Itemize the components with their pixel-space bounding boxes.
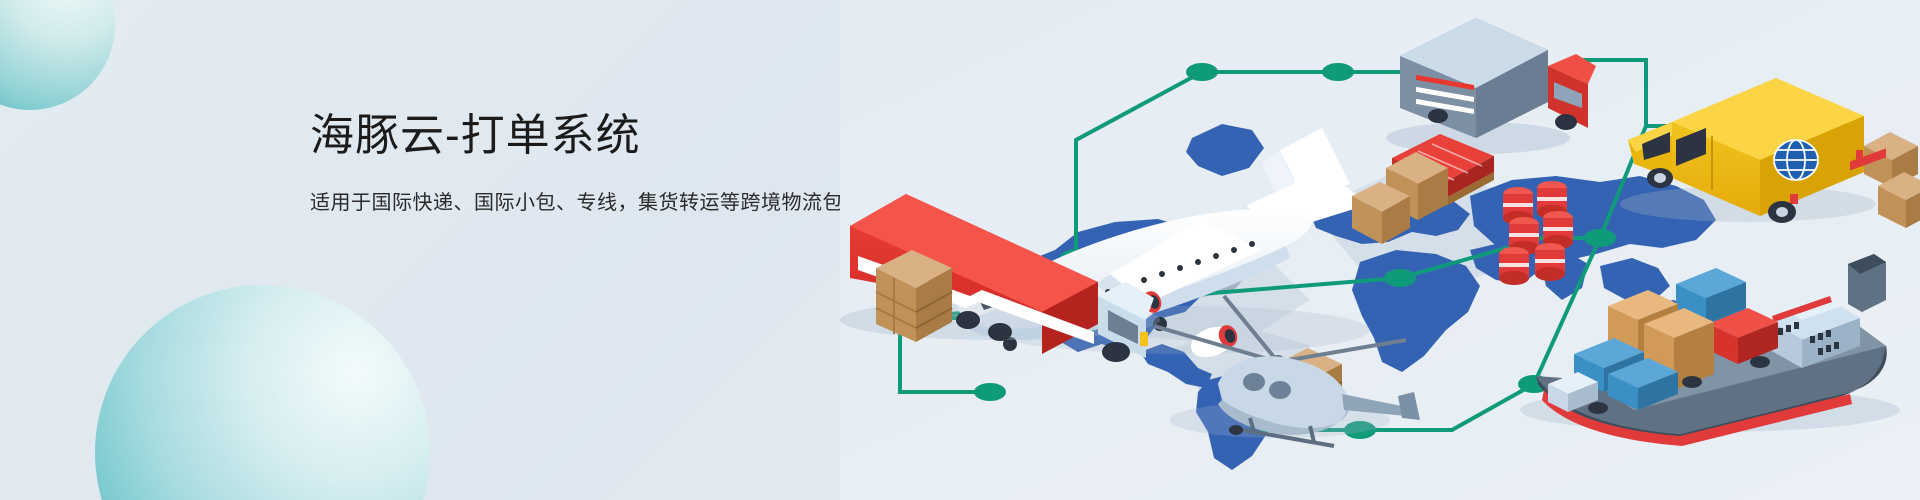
hero-banner: 海豚云-打单系统 适用于国际快递、国际小包、专线，集货转运等跨境物流包裹处理 [0,0,1920,500]
cardboard-boxes-icon [876,250,952,342]
decorative-circle-bottom-left [95,285,430,500]
network-node [1322,63,1354,81]
page-subtitle: 适用于国际快递、国际小包、专线，集货转运等跨境物流包裹处理 [310,189,930,217]
network-node [1584,229,1616,247]
banner-text-block: 海豚云-打单系统 适用于国际快递、国际小包、专线，集货转运等跨境物流包裹处理 [310,108,930,217]
page-title: 海豚云-打单系统 [310,108,930,163]
network-node [1186,63,1218,81]
network-node [974,383,1006,401]
globe-logo-icon [1774,140,1818,180]
network-node [1384,269,1416,287]
decorative-circle-top-left [0,0,115,110]
isometric-global-logistics-illustration [840,0,1920,500]
